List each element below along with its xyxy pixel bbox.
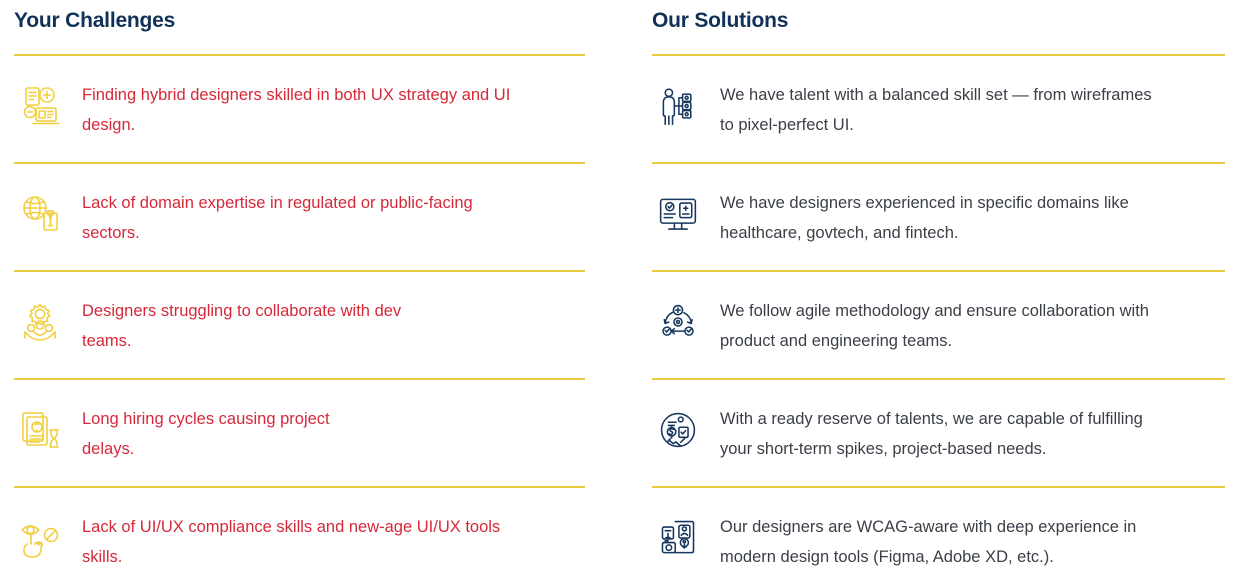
challenge-row-1: Finding hybrid designers skilled in both… xyxy=(14,56,585,162)
accessibility-tools-icon xyxy=(652,512,704,564)
challenge-text-2: Lack of domain expertise in regulated or… xyxy=(82,186,473,248)
solution-row-3: We follow agile methodology and ensure c… xyxy=(652,272,1225,378)
solution-row-1: We have talent with a balanced skill set… xyxy=(652,56,1225,162)
solution-text-2: We have designers experienced in specifi… xyxy=(720,186,1129,248)
solution-row-4: With a ready reserve of talents, we are … xyxy=(652,380,1225,486)
solution-text-4: With a ready reserve of talents, we are … xyxy=(720,402,1143,464)
challenge-text-3-line1: Designers struggling to collaborate with… xyxy=(82,296,401,326)
challenge-text-1-line2: design. xyxy=(82,110,510,140)
solution-text-1-line1: We have talent with a balanced skill set… xyxy=(720,80,1152,110)
solution-text-2-line1: We have designers experienced in specifi… xyxy=(720,188,1129,218)
solutions-column: Our Solutions We have xyxy=(620,0,1243,577)
solution-text-3-line1: We follow agile methodology and ensure c… xyxy=(720,296,1149,326)
agile-cycle-icon xyxy=(652,296,704,348)
challenge-text-2-line1: Lack of domain expertise in regulated or… xyxy=(82,188,473,218)
globe-clipboard-icon xyxy=(14,188,66,240)
challenge-text-4-line2: delays. xyxy=(82,434,330,464)
challenge-text-5-line2: skills. xyxy=(82,542,500,572)
hand-eye-blocked-icon xyxy=(14,512,66,564)
solution-row-2: We have designers experienced in specifi… xyxy=(652,164,1225,270)
challenge-row-4: Long hiring cycles causing project delay… xyxy=(14,380,585,486)
person-skills-icon xyxy=(652,80,704,132)
solution-text-4-line1: With a ready reserve of talents, we are … xyxy=(720,404,1143,434)
challenges-heading: Your Challenges xyxy=(14,0,585,35)
gear-team-icon xyxy=(14,296,66,348)
challenge-text-5: Lack of UI/UX compliance skills and new-… xyxy=(82,510,500,572)
challenge-text-4-line1: Long hiring cycles causing project xyxy=(82,404,330,434)
challenges-column: Your Challenges xyxy=(0,0,620,577)
challenge-text-1: Finding hybrid designers skilled in both… xyxy=(82,78,510,140)
solution-text-2-line2: healthcare, govtech, and fintech. xyxy=(720,218,1129,248)
talent-reserve-icon xyxy=(652,404,704,456)
solution-text-1: We have talent with a balanced skill set… xyxy=(720,78,1152,140)
challenge-text-3-line2: teams. xyxy=(82,326,401,356)
challenge-row-5: Lack of UI/UX compliance skills and new-… xyxy=(14,488,585,577)
solution-text-1-line2: to pixel-perfect UI. xyxy=(720,110,1152,140)
monitor-domains-icon xyxy=(652,188,704,240)
challenge-text-1-line1: Finding hybrid designers skilled in both… xyxy=(82,80,510,110)
challenge-text-2-line2: sectors. xyxy=(82,218,473,248)
challenge-text-3: Designers struggling to collaborate with… xyxy=(82,294,401,356)
challenge-row-3: Designers struggling to collaborate with… xyxy=(14,272,585,378)
documents-hourglass-icon xyxy=(14,404,66,456)
solution-text-5-line1: Our designers are WCAG-aware with deep e… xyxy=(720,512,1136,542)
solution-text-5-line2: modern design tools (Figma, Adobe XD, et… xyxy=(720,542,1136,572)
solution-row-5: Our designers are WCAG-aware with deep e… xyxy=(652,488,1225,577)
solution-text-5: Our designers are WCAG-aware with deep e… xyxy=(720,510,1136,572)
solutions-heading: Our Solutions xyxy=(652,0,1225,35)
challenge-text-5-line1: Lack of UI/UX compliance skills and new-… xyxy=(82,512,500,542)
solution-text-3: We follow agile methodology and ensure c… xyxy=(720,294,1149,356)
devices-design-icon xyxy=(14,80,66,132)
solution-text-3-line2: product and engineering teams. xyxy=(720,326,1149,356)
challenge-text-4: Long hiring cycles causing project delay… xyxy=(82,402,330,464)
challenge-row-2: Lack of domain expertise in regulated or… xyxy=(14,164,585,270)
challenges-solutions-comparison: Your Challenges xyxy=(0,0,1243,577)
solution-text-4-line2: your short-term spikes, project-based ne… xyxy=(720,434,1143,464)
